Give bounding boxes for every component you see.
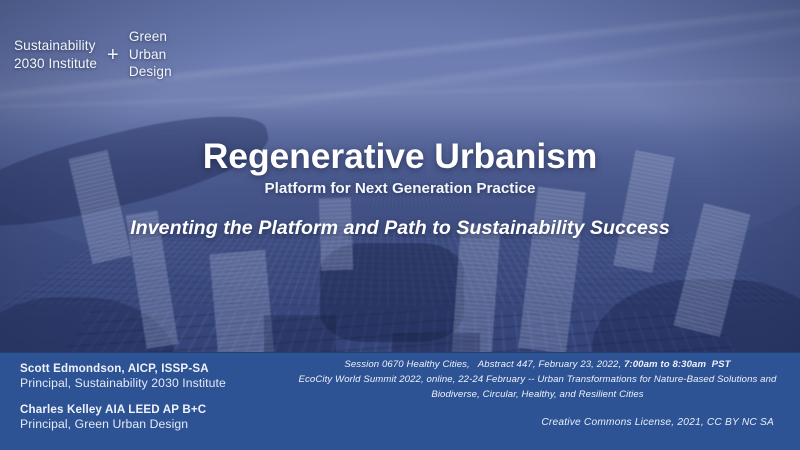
session-details: Session 0670 Healthy Cities, Abstract 44… [285,358,790,402]
presenter-entry: Scott Edmondson, AICP, ISSP-SA Principal… [20,362,226,390]
presenter-role: Principal, Sustainability 2030 Institute [20,376,226,390]
page-title: Regenerative Urbanism [0,136,800,177]
presenter-role: Principal, Green Urban Design [20,417,226,431]
presenter-name: Scott Edmondson, AICP, ISSP-SA [20,362,226,375]
title-slide: Sustainability 2030 Institute + Green Ur… [0,0,800,450]
spacer [20,390,226,403]
logo-line: Green [129,28,172,46]
page-tagline: Inventing the Platform and Path to Susta… [0,217,800,240]
logo-line: Design [129,63,172,81]
session-time: 7:00am to 8:30am PST [624,359,731,370]
page-subtitle: Platform for Next Generation Practice [0,180,800,197]
logo-lockup: Sustainability 2030 Institute + Green Ur… [14,28,172,81]
presenter-entry: Charles Kelley AIA LEED AP B+C Principal… [20,403,226,431]
session-conference-text: EcoCity World Summit 2022, online, 22-24… [285,373,790,402]
footer-band: Scott Edmondson, AICP, ISSP-SA Principal… [0,352,800,450]
logo-line: 2030 Institute [14,55,97,73]
logo-line: Urban [129,46,172,64]
plus-icon: + [106,42,120,68]
logo-green-urban-design: Green Urban Design [129,28,172,81]
logo-sustainability-2030-institute: Sustainability 2030 Institute [14,37,97,72]
session-abstract-text: Session 0670 Healthy Cities, Abstract 44… [344,359,624,370]
title-block: Regenerative Urbanism Platform for Next … [0,136,800,240]
presenter-name: Charles Kelley AIA LEED AP B+C [20,403,226,416]
logo-line: Sustainability [14,37,97,55]
presenter-list: Scott Edmondson, AICP, ISSP-SA Principal… [20,362,226,431]
session-line-primary: Session 0670 Healthy Cities, Abstract 44… [285,358,790,373]
license-notice: Creative Commons License, 2021, CC BY NC… [541,417,774,428]
